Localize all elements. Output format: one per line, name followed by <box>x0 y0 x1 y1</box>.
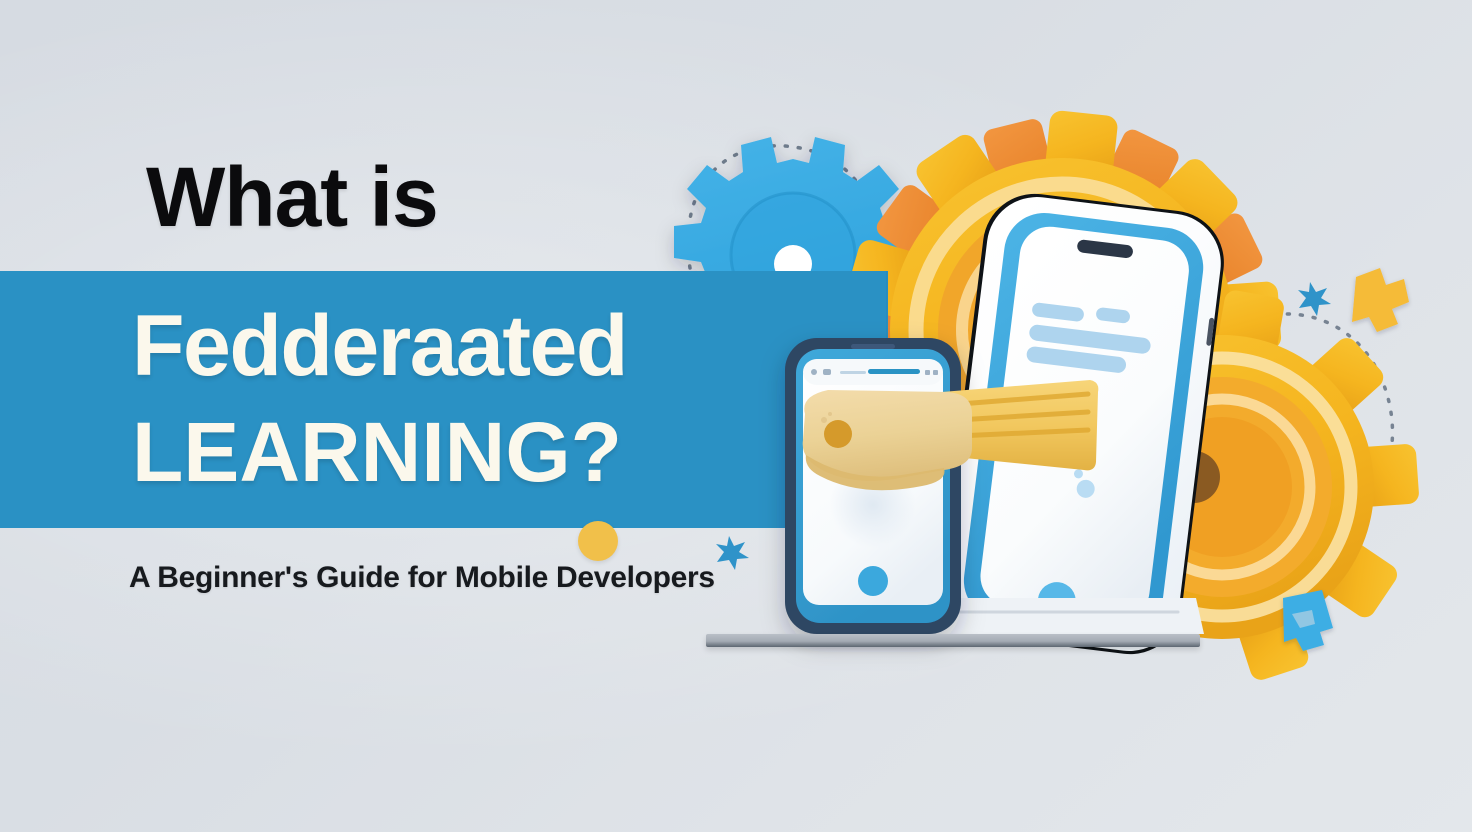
yellow-dot <box>578 521 618 561</box>
poster-canvas: What is Fedderaated LEARNING? A Beginner… <box>0 0 1472 832</box>
subtitle-text: A Beginner's Guide for Mobile Developers <box>129 563 715 593</box>
title-line-1: Fedderaated <box>132 303 627 389</box>
eyebrow-text: What is <box>146 155 438 239</box>
title-line-2: LEARNING? <box>132 410 622 494</box>
device-base-plate <box>706 634 1200 647</box>
